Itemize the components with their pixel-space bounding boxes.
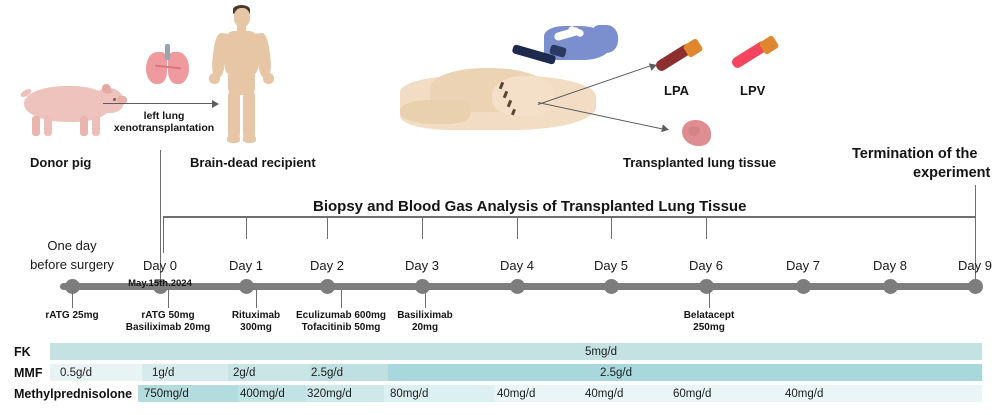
termination-label-line2: experiment [913, 165, 990, 181]
medication-stem [425, 290, 426, 308]
transfer-arrow-label-line1: left lung [103, 110, 225, 122]
termination-label-line1: Termination of the [852, 146, 977, 162]
donor-pig-label: Donor pig [30, 155, 91, 170]
regimen-value: 40mg/d [785, 388, 823, 400]
bracket-tick [327, 217, 328, 239]
bracket-tick [706, 217, 707, 239]
arrow-to-lung-tissue-icon [538, 100, 678, 140]
timeline-node-day3[interactable] [415, 279, 430, 294]
regimen-value: 750mg/d [144, 388, 189, 400]
lung-icon [145, 44, 191, 86]
regimen-value: 0.5g/d [60, 367, 92, 379]
timeline-node-day9[interactable] [968, 279, 983, 294]
timeline-date-sub: May.15th.2024 [70, 278, 250, 289]
blood-tube-dark-red-icon [652, 38, 712, 78]
regimen-value: 320mg/d [307, 388, 352, 400]
timeline-node-day4[interactable] [510, 279, 525, 294]
recipient-label: Brain-dead recipient [190, 155, 316, 170]
regimen-value: 1g/d [152, 367, 174, 379]
human-body-icon [208, 5, 274, 145]
lpa-label: LPA [664, 83, 689, 98]
lung-tissue-sample-icon [680, 118, 714, 148]
medication-stem [168, 290, 169, 308]
lpv-label: LPV [740, 83, 765, 98]
medication-callout: Belatacept250mg [609, 310, 809, 333]
timeline-node-day6[interactable] [699, 279, 714, 294]
bracket-tick [422, 217, 423, 239]
timeline-node-day1[interactable] [239, 279, 254, 294]
analysis-bracket [163, 216, 975, 218]
bracket-tick [975, 217, 976, 239]
timeline-node-day5[interactable] [604, 279, 619, 294]
bracket-tick [246, 217, 247, 239]
regimen-value: 2g/d [233, 367, 255, 379]
medication-stem [72, 290, 73, 308]
timeline-node-day8[interactable] [883, 279, 898, 294]
regimen-row-label-methylprednisolone: Methylprednisolone [14, 387, 132, 401]
medication-line1: Belatacept [609, 310, 809, 322]
timeline-node-day7[interactable] [796, 279, 811, 294]
transplanted-tissue-label: Transplanted lung tissue [623, 155, 776, 170]
bracket-tick [611, 217, 612, 239]
bracket-title: Biopsy and Blood Gas Analysis of Transpl… [313, 198, 746, 215]
transplant-arrow-icon [103, 99, 225, 109]
medication-stem [341, 290, 342, 308]
regimen-value: 400mg/d [240, 388, 285, 400]
timeline-label-line1: Day 9 [885, 258, 1000, 273]
medication-callout: Basiliximab20mg [325, 310, 525, 333]
medication-line1: Basiliximab [325, 310, 525, 322]
bracket-tick [517, 217, 518, 239]
medication-stem [709, 290, 710, 308]
medication-stem [256, 290, 257, 308]
regimen-band-methylprednisolone [494, 385, 982, 402]
medication-line2: 250mg [609, 322, 809, 334]
regimen-value: 80mg/d [390, 388, 428, 400]
regimen-row-label-fk: FK [14, 345, 31, 359]
regimen-value: 40mg/d [497, 388, 535, 400]
timeline-label-line1: One day [0, 238, 162, 253]
regimen-value: 40mg/d [585, 388, 623, 400]
regimen-value: 2.5g/d [600, 367, 632, 379]
regimen-band-fk [50, 343, 982, 360]
bracket-tick [163, 217, 164, 253]
regimen-band-mmf [388, 364, 982, 381]
medication-line2: 20mg [325, 322, 525, 334]
regimen-value: 60mg/d [673, 388, 711, 400]
figure-canvas: Donor pig left lung xenotransplantation … [0, 0, 1000, 415]
regimen-value: 2.5g/d [311, 367, 343, 379]
timeline-node-day2[interactable] [320, 279, 335, 294]
regimen-row-label-mmf: MMF [14, 366, 42, 380]
regimen-value: 5mg/d [585, 346, 617, 358]
timeline-label-day9: Day 9 [885, 258, 1000, 273]
blood-tube-pink-icon [728, 35, 788, 75]
